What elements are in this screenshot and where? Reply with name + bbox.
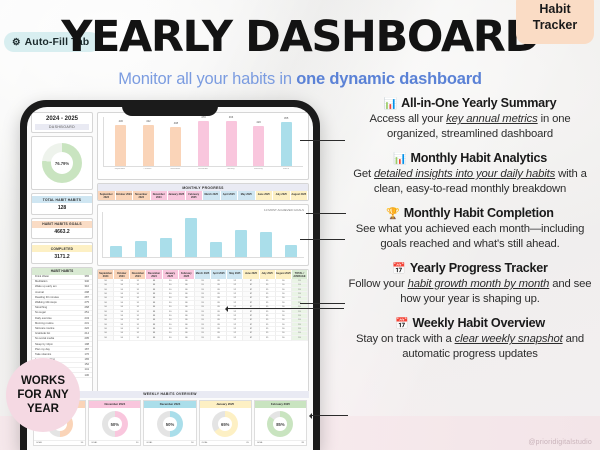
feature-text: Stay on track with a clear weekly snapsh… (345, 332, 595, 362)
donut-value: 50% (166, 422, 174, 427)
weekly-card: February 202585%GOAL85 (254, 400, 307, 446)
subtitle-plain: Monitor all your habits in (118, 70, 296, 88)
habit-name: Sleep by 10pm (35, 343, 53, 346)
habit-value: 275 (85, 301, 89, 304)
weekly-card-title: November 2024 (89, 401, 140, 408)
weekly-card-footer: GOAL50 (144, 440, 195, 445)
feature-text-before: Stay on track with a (356, 333, 455, 345)
bar-label: 455 (284, 117, 288, 120)
table-cell: 86 (179, 336, 195, 340)
bar-label: 470 (201, 116, 205, 119)
monthly-progress-card: MONTHLY PROGRESS September 2024October 2… (97, 183, 309, 201)
habit-value: 214 (85, 332, 89, 335)
axis-tick: January (225, 168, 236, 170)
bar (235, 230, 247, 258)
habit-name: Reading 30 minutes (35, 296, 59, 299)
feature-title-row: 🏆 Monthly Habit Completion (345, 206, 595, 220)
goal-value: 65 (246, 442, 248, 444)
goal-value: 85 (302, 442, 304, 444)
subtitle: Monitor all your habits in one dynamic d… (0, 70, 600, 89)
habit-value: 365 (85, 275, 89, 278)
goal-label: GOAL (257, 442, 263, 444)
bar (135, 241, 147, 257)
weekly-card: December 202450%GOAL50 (143, 400, 196, 446)
metric-label: HABIT HABITS GOALS (32, 221, 92, 228)
feature-text-before: See what you achieved each month—includi… (356, 223, 585, 250)
connector-line-2 (306, 213, 346, 214)
feature-item: 📊 Monthly Habit Analytics Get detailed i… (345, 151, 595, 197)
bar (210, 242, 222, 257)
habit-tracker-badge: Habit Tracker (516, 0, 594, 44)
feature-text-before: Get (353, 168, 374, 180)
table-cell: 91 (130, 336, 146, 340)
habit-value: 176 (85, 353, 89, 356)
year-card: 2024 - 2025 DASHBOARD (31, 112, 93, 133)
month-header-cell: November 2024 (133, 191, 151, 200)
habit-name: Morning routine (35, 322, 54, 325)
works-line1: WORKS (21, 374, 65, 388)
watermark: @prioridigitalstudio (528, 439, 592, 446)
month-header-cell: TOTAL / AVERAGE (292, 270, 308, 279)
bar (160, 238, 172, 257)
month-header-cell: May 2025 (227, 270, 243, 279)
feature-text-before: Follow your (349, 278, 408, 290)
feature-title: All-in-One Yearly Summary (401, 96, 556, 110)
feature-text: See what you achieved each month—includi… (345, 222, 595, 252)
habit-value: 141 (85, 368, 89, 371)
goal-label: GOAL (202, 442, 208, 444)
habit-name: No sugar (35, 311, 46, 314)
page-title: YEARLY DASHBOARD (0, 12, 600, 62)
trophy-icon: 🏆 (386, 207, 399, 220)
habit-value: 287 (85, 296, 89, 299)
feature-item: 🏆 Monthly Habit Completion See what you … (345, 206, 595, 252)
habit-value: 231 (85, 322, 89, 325)
metric-card: HABIT HABITS GOALS 4663.2 (31, 218, 93, 240)
bar (185, 218, 197, 257)
bar: 432 (143, 125, 154, 166)
habit-value: 298 (85, 291, 89, 294)
metric-label: TOTAL HABIT HABITS (32, 196, 92, 203)
donut-graphic: 76.79% (42, 143, 82, 183)
month-header-cell: February 2025 (179, 270, 195, 279)
habit-value: 165 (85, 358, 89, 361)
feature-text: Follow your habit growth month by month … (345, 277, 595, 307)
habit-name: Plan my day (35, 348, 50, 351)
axis-tick: March (281, 168, 292, 170)
weekly-donut: 85% (255, 408, 306, 440)
month-header-cell: October 2024 (116, 191, 134, 200)
weekly-donut: 65% (200, 408, 251, 440)
donut-value: 76.79% (55, 161, 69, 166)
subtitle-bold: one dynamic dashboard (296, 70, 482, 88)
month-header-row: September 2024October 2024November 2024D… (98, 191, 308, 200)
connector-line-1 (300, 140, 345, 141)
bar (260, 232, 272, 257)
feature-item: 📅 Yearly Progress Tracker Follow your ha… (345, 261, 595, 307)
goal-value: 50 (136, 442, 138, 444)
feature-text-emphasis: detailed insights into your daily habits (374, 168, 555, 180)
calendar-icon: 📅 (395, 317, 408, 330)
habit-name: Gratitude list (35, 332, 50, 335)
month-header-cell: August 2025 (276, 270, 292, 279)
bar-label: 430 (119, 120, 123, 123)
month-header-cell: May 2025 (238, 191, 256, 200)
table-cell: 87 (243, 336, 259, 340)
feature-title: Monthly Habit Completion (404, 206, 554, 220)
bar-chart-icon: 📊 (393, 152, 406, 165)
table-cell: 92 (227, 336, 243, 340)
metric-value: 128 (32, 203, 92, 211)
metric-value: 4663.2 (32, 228, 92, 236)
bar: 408 (170, 127, 181, 166)
month-header-cell: September 2024 (98, 270, 114, 279)
bar-label: 432 (146, 120, 150, 123)
table-header-row: September 2024October 2024November 2024D… (98, 270, 308, 279)
habit-value: 251 (85, 311, 89, 314)
month-header-cell: January 2025 (163, 270, 179, 279)
habit-name: No social media (35, 337, 54, 340)
feature-text-emphasis: habit growth month by month (408, 278, 550, 290)
metric-value: 3171.2 (32, 252, 92, 260)
feature-text-before: Access all your (369, 113, 446, 125)
yearly-bar-chart: 430432408470466420455 SeptemberOctoberNo… (97, 112, 309, 180)
table-cell: 93 (195, 336, 211, 340)
month-header-cell: April 2025 (211, 270, 227, 279)
axis-tick: September (114, 168, 125, 170)
habit-value: 268 (85, 306, 89, 309)
weekly-card: November 202450%GOAL50 (88, 400, 141, 446)
phone-notch (122, 102, 218, 116)
bar: 455 (281, 122, 292, 166)
yearly-completion-donut: 76.79% (31, 136, 93, 190)
axis-tick: November (170, 168, 181, 170)
feature-text-emphasis: key annual metrics (446, 113, 537, 125)
weekly-donut: 50% (89, 408, 140, 440)
month-header-cell: February 2025 (186, 191, 204, 200)
habit-name: Skincare routine (35, 327, 54, 330)
goal-bar-plot (102, 212, 304, 258)
bar: 470 (198, 121, 209, 166)
habit-name: Walking 10k steps (35, 301, 57, 304)
feature-title-row: 📊 Monthly Habit Analytics (345, 151, 595, 165)
feature-item: 📅 Weekly Habit Overview Stay on track wi… (345, 316, 595, 362)
works-line2: FOR ANY (17, 388, 68, 402)
habit-value: 340 (85, 280, 89, 283)
weekly-card-title: December 2024 (144, 401, 195, 408)
feature-title: Yearly Progress Tracker (410, 261, 548, 275)
weekly-card-footer: GOAL50 (89, 440, 140, 445)
goal-value: 50 (191, 442, 193, 444)
habit-name: Drink Water (35, 275, 49, 278)
feature-title: Monthly Habit Analytics (410, 151, 547, 165)
metric-label: COMPLETED (32, 245, 92, 252)
feature-text: Access all your key annual metrics in on… (345, 112, 595, 142)
weekly-card-footer: GOAL85 (255, 440, 306, 445)
habit-value: 152 (85, 363, 89, 366)
habit-name: Daily exercise (35, 317, 52, 320)
works-for-any-year-badge: WORKS FOR ANY YEAR (6, 358, 80, 432)
axis-tick: February (253, 168, 264, 170)
axis-tick: October (142, 168, 153, 170)
bar (285, 245, 297, 258)
bar-label: 420 (256, 121, 260, 124)
table-body: 9694918890869389928795909196949188908693… (98, 279, 308, 340)
metric-card: COMPLETED 3171.2 (31, 242, 93, 264)
habit-value: 310 (85, 285, 89, 288)
table-cell: 88 (146, 336, 162, 340)
table-cell: 96 (98, 336, 114, 340)
habit-name: Meditation (35, 280, 47, 283)
table-cell: 90 (163, 336, 179, 340)
month-header-cell: December 2024 (146, 270, 162, 279)
habit-name: Stretching (35, 306, 47, 309)
goal-label: GOAL (146, 442, 152, 444)
table-cell: 89 (211, 336, 227, 340)
weekly-card-footer: GOAL50 (34, 440, 85, 445)
bar-chart-plot: 430432408470466420455 (103, 117, 303, 167)
month-header-cell: April 2025 (221, 191, 239, 200)
habit-value: 205 (85, 337, 89, 340)
habit-value: 187 (85, 348, 89, 351)
metric-card: TOTAL HABIT HABITS 128 (31, 193, 93, 215)
monthly-progress-header: MONTHLY PROGRESS (98, 184, 308, 191)
bar: 466 (226, 121, 237, 166)
month-header-cell: January 2025 (168, 191, 186, 200)
table-cell: 94 (114, 336, 130, 340)
month-header-cell: June 2025 (256, 191, 274, 200)
feature-list: 📊 All-in-One Yearly Summary Access all y… (345, 96, 595, 371)
habit-tracker-line1: Habit (539, 2, 570, 18)
month-header-cell: November 2024 (130, 270, 146, 279)
month-header-cell: September 2024 (98, 191, 116, 200)
habit-list-header: HABIT HABITS (32, 268, 92, 275)
connector-line-5 (310, 415, 348, 416)
dashboard-label: DASHBOARD (35, 124, 89, 130)
month-header-cell: July 2025 (260, 270, 276, 279)
connector-line-6 (226, 308, 344, 309)
habit-name: Wake up early am (35, 285, 57, 288)
feature-item: 📊 All-in-One Yearly Summary Access all y… (345, 96, 595, 142)
habit-value: 222 (85, 327, 89, 330)
feature-title-row: 📅 Weekly Habit Overview (345, 316, 595, 330)
bar (110, 246, 122, 257)
goal-value: 50 (81, 442, 83, 444)
month-header-cell: July 2025 (273, 191, 291, 200)
weekly-card-footer: GOAL65 (200, 440, 251, 445)
axis-tick: December (197, 168, 208, 170)
connector-line-3 (300, 239, 345, 240)
weekly-donut: 50% (144, 408, 195, 440)
weekly-card-title: February 2025 (255, 401, 306, 408)
habit-value: 243 (85, 317, 89, 320)
table-cell: 95 (260, 336, 276, 340)
bar: 420 (253, 126, 264, 166)
feature-title-row: 📊 All-in-One Yearly Summary (345, 96, 595, 110)
feature-text: Get detailed insights into your daily ha… (345, 167, 595, 197)
goal-label: GOAL (91, 442, 97, 444)
feature-title-row: 📅 Yearly Progress Tracker (345, 261, 595, 275)
donut-value: 85% (276, 422, 284, 427)
calendar-icon: 📅 (392, 262, 405, 275)
month-header-cell: March 2025 (203, 191, 221, 200)
habit-tracker-line2: Tracker (533, 18, 577, 34)
month-header-cell: October 2024 (114, 270, 130, 279)
month-header-cell: August 2025 (291, 191, 309, 200)
donut-value: 50% (111, 422, 119, 427)
habit-name: Take vitamins (35, 353, 51, 356)
bar-label: 466 (229, 116, 233, 119)
habit-value: 198 (85, 343, 89, 346)
weekly-card: January 202565%GOAL65 (199, 400, 252, 446)
bar-chart-axis: SeptemberOctoberNovemberDecemberJanuaryF… (103, 168, 303, 170)
month-header-cell: June 2025 (243, 270, 259, 279)
bar-label: 408 (174, 122, 178, 125)
connector-line-4 (300, 303, 345, 304)
table-cell: 91 (292, 336, 308, 340)
weekly-card-title: January 2025 (200, 401, 251, 408)
habit-value: 130 (85, 374, 89, 377)
works-line3: YEAR (27, 402, 59, 416)
table-row: 96949188908693899287959091 (98, 336, 308, 340)
table-cell: 90 (276, 336, 292, 340)
year-label: 2024 - 2025 (32, 116, 92, 122)
goal-label: GOAL (36, 442, 42, 444)
month-header-cell: December 2024 (151, 191, 169, 200)
bar-list-icon: 📊 (384, 97, 397, 110)
month-header-cell: March 2025 (195, 270, 211, 279)
feature-text-emphasis: clear weekly snapshot (455, 333, 563, 345)
donut-value: 65% (221, 422, 229, 427)
bar: 430 (115, 125, 126, 166)
habit-name: Journal (35, 291, 44, 294)
feature-title: Weekly Habit Overview (413, 316, 545, 330)
most-achieved-goals-chart: 10 MOST ACHIEVED GOALS (97, 204, 309, 266)
